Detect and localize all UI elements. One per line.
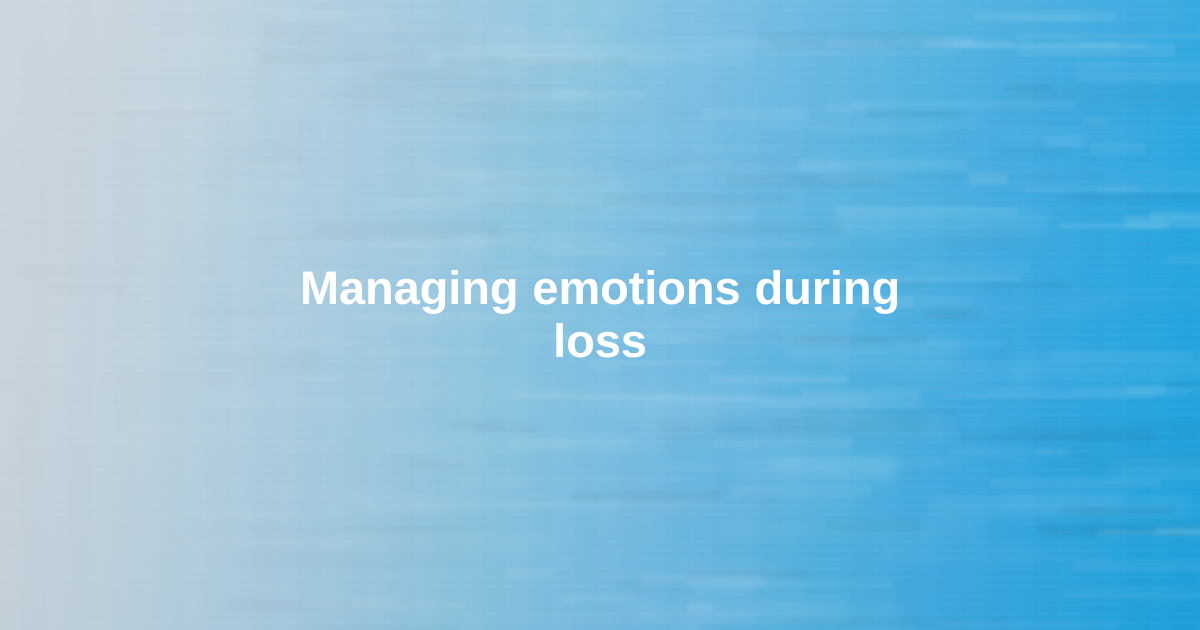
title-container: Managing emotions during loss xyxy=(0,0,1200,630)
page-title: Managing emotions during loss xyxy=(270,262,930,367)
social-card: Managing emotions during loss xyxy=(0,0,1200,630)
